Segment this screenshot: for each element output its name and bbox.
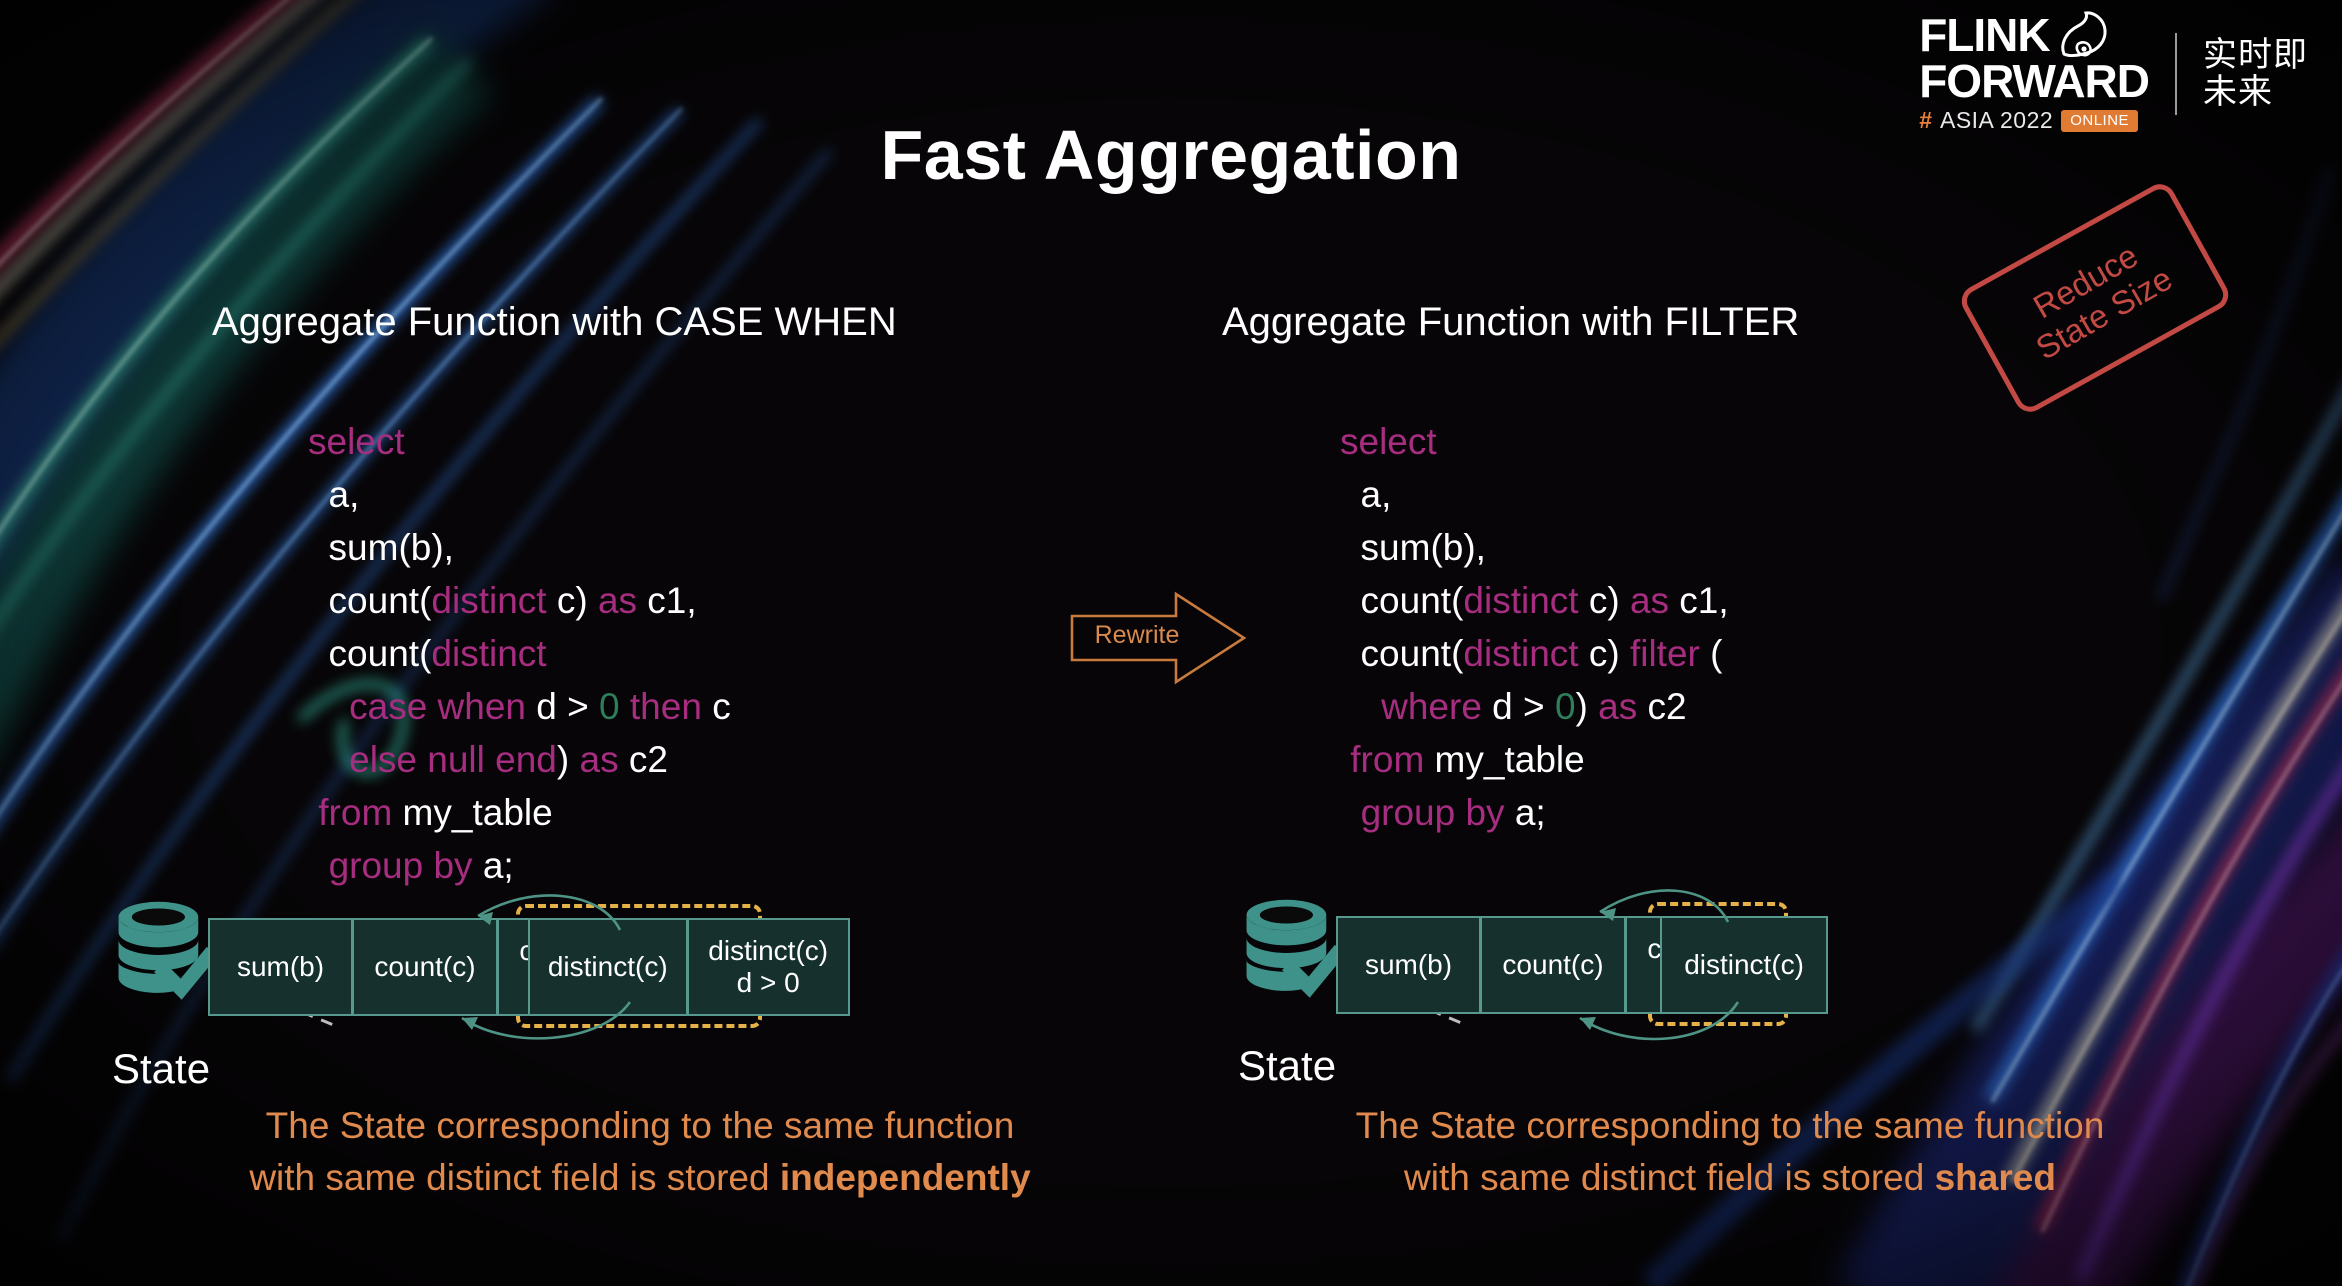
right-caption-emphasis: shared [1935, 1157, 2056, 1198]
left-state-label: State [112, 1045, 210, 1093]
code-token: from [318, 792, 392, 833]
code-token: distinct [431, 580, 546, 621]
left-section-heading: Aggregate Function with CASE WHEN [212, 300, 897, 345]
code-token [308, 792, 318, 833]
code-token: count( [308, 580, 431, 621]
code-token: count( [1340, 580, 1463, 621]
code-token: distinct [431, 633, 546, 674]
code-token: sum(b), [308, 527, 454, 568]
code-token [308, 686, 349, 727]
code-line: count(distinct c) as c1, [308, 574, 731, 627]
code-token: a; [1505, 792, 1546, 833]
logo-online-badge: ONLINE [2061, 110, 2138, 132]
code-line: select [1340, 415, 1729, 468]
code-token: c) [1579, 633, 1620, 674]
code-line: count(distinct c) filter ( [1340, 627, 1729, 680]
code-line: count(distinct [308, 627, 731, 680]
logo-wordmark: FLINK FORWARD # ASIA 2022 ONLINE [1919, 14, 2149, 134]
right-state-label: State [1238, 1042, 1336, 1090]
left-sql-code: select a, sum(b), count(distinct c) as c… [308, 415, 731, 892]
code-token: sum(b), [1340, 527, 1486, 568]
code-token: from [1350, 739, 1424, 780]
right-section-heading: Aggregate Function with FILTER [1222, 300, 1799, 345]
hash-icon: # [1919, 107, 1932, 134]
flink-squirrel-icon [2054, 10, 2112, 60]
left-state-flow-arrows [200, 872, 820, 1062]
code-token: ( [1700, 633, 1723, 674]
code-token: as [569, 739, 618, 780]
code-token: c [702, 686, 731, 727]
code-token: as [1620, 580, 1669, 621]
code-line: sum(b), [308, 521, 731, 574]
logo-word-forward: FORWARD [1919, 60, 2149, 102]
code-token: else null end [349, 739, 557, 780]
code-token: distinct [1463, 580, 1578, 621]
code-token [308, 739, 349, 780]
code-token: c2 [619, 739, 668, 780]
code-token: c) [1579, 580, 1620, 621]
rewrite-label: Rewrite [1082, 621, 1192, 650]
logo-event-name: ASIA 2022 [1940, 107, 2053, 134]
code-token: distinct [1463, 633, 1578, 674]
code-line: a, [1340, 468, 1729, 521]
code-token: c) [547, 580, 588, 621]
code-token: count( [1340, 633, 1463, 674]
code-token: a, [1340, 474, 1391, 515]
logo-chinese-line-2: 未来 [2203, 74, 2308, 111]
code-line: count(distinct c) as c1, [1340, 574, 1729, 627]
code-token: c2 [1637, 686, 1686, 727]
right-state-flow-arrows [1328, 870, 1888, 1060]
code-token: group by [1361, 792, 1505, 833]
code-token: select [308, 421, 405, 462]
code-line: from my_table [308, 786, 731, 839]
code-token: case when [349, 686, 526, 727]
code-line: sum(b), [1340, 521, 1729, 574]
left-caption-emphasis: independently [780, 1157, 1031, 1198]
code-token: d > [1482, 686, 1555, 727]
code-token: my_table [1424, 739, 1584, 780]
left-caption: The State corresponding to the same func… [110, 1100, 1170, 1204]
rewrite-arrow: Rewrite [1068, 588, 1248, 688]
code-line: from my_table [1340, 733, 1729, 786]
code-line: group by a; [1340, 786, 1729, 839]
logo-chinese-line-1: 实时即 [2203, 37, 2308, 74]
code-token: where [1381, 686, 1482, 727]
right-sql-code: select a, sum(b), count(distinct c) as c… [1340, 415, 1729, 839]
logo-line-1: FLINK [1919, 14, 2111, 60]
code-token [1340, 686, 1381, 727]
logo-divider [2175, 33, 2177, 115]
code-token: my_table [392, 792, 552, 833]
code-line: where d > 0) as c2 [1340, 680, 1729, 733]
code-token [1340, 792, 1361, 833]
logo-word-flink: FLINK [1919, 14, 2049, 56]
code-token: as [1588, 686, 1637, 727]
code-token: as [588, 580, 637, 621]
code-token: count( [308, 633, 431, 674]
code-token: c1, [637, 580, 697, 621]
code-token: c1, [1669, 580, 1729, 621]
code-line: else null end) as c2 [308, 733, 731, 786]
code-token: d > [526, 686, 599, 727]
code-token: a, [308, 474, 359, 515]
code-token: ) [1576, 686, 1588, 727]
logo-event-line: # ASIA 2022 ONLINE [1919, 107, 2138, 134]
flink-forward-logo: FLINK FORWARD # ASIA 2022 ONLINE 实时即 未来 [1919, 14, 2308, 134]
code-token: ) [557, 739, 569, 780]
code-line: a, [308, 468, 731, 521]
code-token: filter [1620, 633, 1700, 674]
code-token: 0 [599, 686, 620, 727]
right-caption: The State corresponding to the same func… [1200, 1100, 2260, 1204]
code-token: 0 [1555, 686, 1576, 727]
code-token: then [620, 686, 702, 727]
code-line: case when d > 0 then c [308, 680, 731, 733]
logo-chinese-tagline: 实时即 未来 [2203, 37, 2308, 110]
code-line: select [308, 415, 731, 468]
code-token: select [1340, 421, 1437, 462]
code-token [1340, 739, 1350, 780]
